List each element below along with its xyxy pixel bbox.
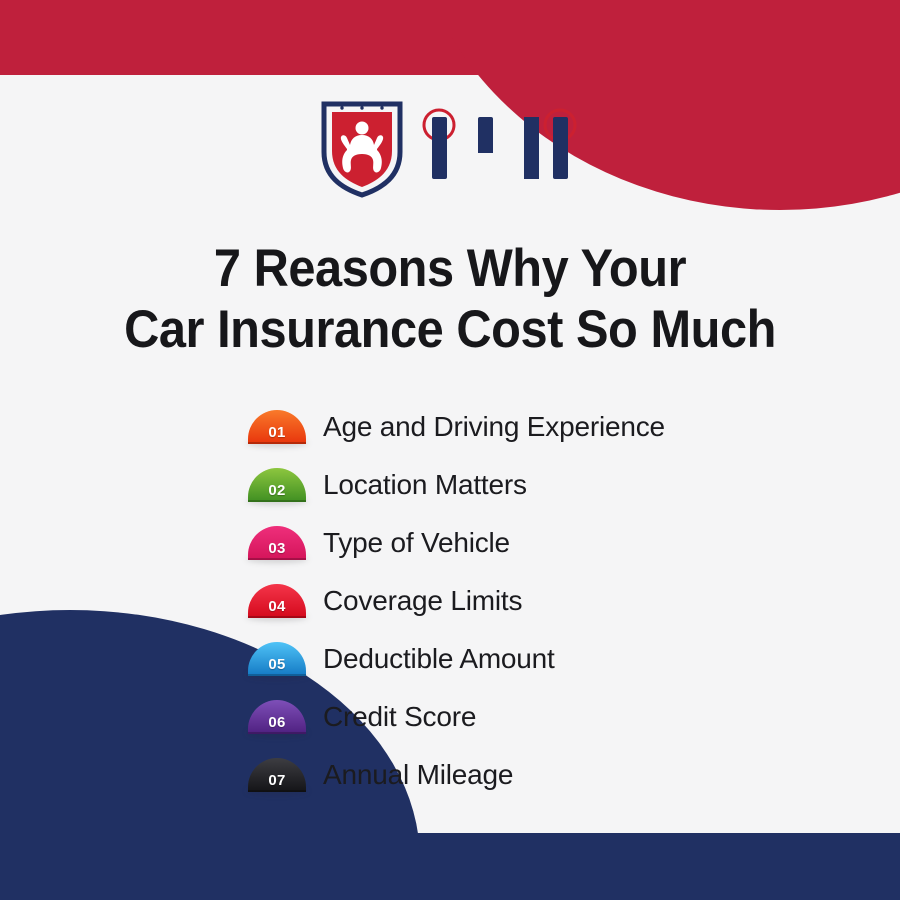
badge-slot: 05 [238,636,320,682]
badge-slot: 01 [238,404,320,450]
list-item-label: Credit Score [320,701,476,733]
infographic-poster: 7 Reasons Why Your Car Insurance Cost So… [0,0,900,900]
number-badge-03: 03 [248,526,306,560]
list-item-label: Deductible Amount [320,643,555,675]
list-item: 02 Location Matters [238,456,798,514]
list-item: 04 Coverage Limits [238,572,798,630]
reasons-list: 01 Age and Driving Experience 02 Locatio… [238,398,798,804]
list-item-label: Location Matters [320,469,527,501]
list-item: 06 Credit Score [238,688,798,746]
list-item-label: Type of Vehicle [320,527,510,559]
badge-slot: 04 [238,578,320,624]
badge-slot: 03 [238,520,320,566]
number-badge-02: 02 [248,468,306,502]
list-item: 05 Deductible Amount [238,630,798,688]
number-badge-04: 04 [248,584,306,618]
list-item: 01 Age and Driving Experience [238,398,798,456]
list-item: 07 Annual Mileage [238,746,798,804]
number-badge-05: 05 [248,642,306,676]
badge-slot: 07 [238,752,320,798]
badge-slot: 06 [238,694,320,740]
wordmark-ini [421,103,581,193]
number-badge-06: 06 [248,700,306,734]
headline-line-2: Car Insurance Cost So Much [36,299,864,360]
shield-logo-icon [319,98,405,198]
list-item-label: Age and Driving Experience [320,411,665,443]
list-item-label: Annual Mileage [320,759,513,791]
number-badge-01: 01 [248,410,306,444]
number-badge-07: 07 [248,758,306,792]
brand-logo [0,98,900,198]
page-title: 7 Reasons Why Your Car Insurance Cost So… [36,238,864,360]
badge-slot: 02 [238,462,320,508]
list-item: 03 Type of Vehicle [238,514,798,572]
list-item-label: Coverage Limits [320,585,522,617]
headline-line-1: 7 Reasons Why Your [36,238,864,299]
